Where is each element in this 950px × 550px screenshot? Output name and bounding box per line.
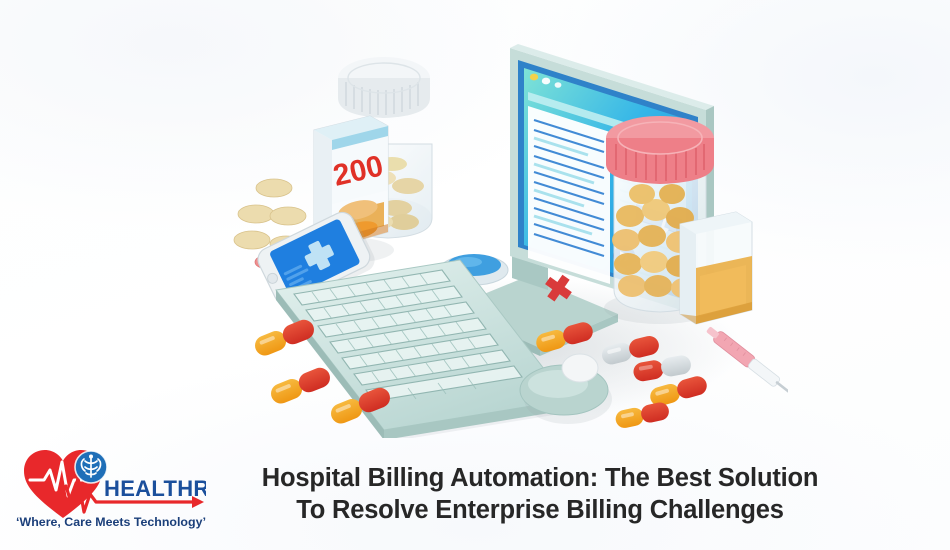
brand-wordmark: HEALTHRAY: [104, 476, 206, 501]
brand-tagline: “Where, Care Meets Technology”: [16, 515, 206, 529]
document-panel-left: [528, 106, 610, 284]
page-title-line-2: To Resolve Enterprise Billing Challenges: [225, 494, 855, 526]
page-title: Hospital Billing Automation: The Best So…: [225, 462, 855, 526]
medicine-box-right: [680, 212, 752, 324]
promo-card: 200: [0, 0, 950, 550]
page-title-line-1: Hospital Billing Automation: The Best So…: [225, 462, 855, 494]
brand-logo[interactable]: HEALTHRAY “Where, Care Meets Technology”: [16, 440, 206, 536]
caduceus-badge-icon: [75, 451, 107, 483]
hero-illustration: 200: [228, 18, 788, 438]
